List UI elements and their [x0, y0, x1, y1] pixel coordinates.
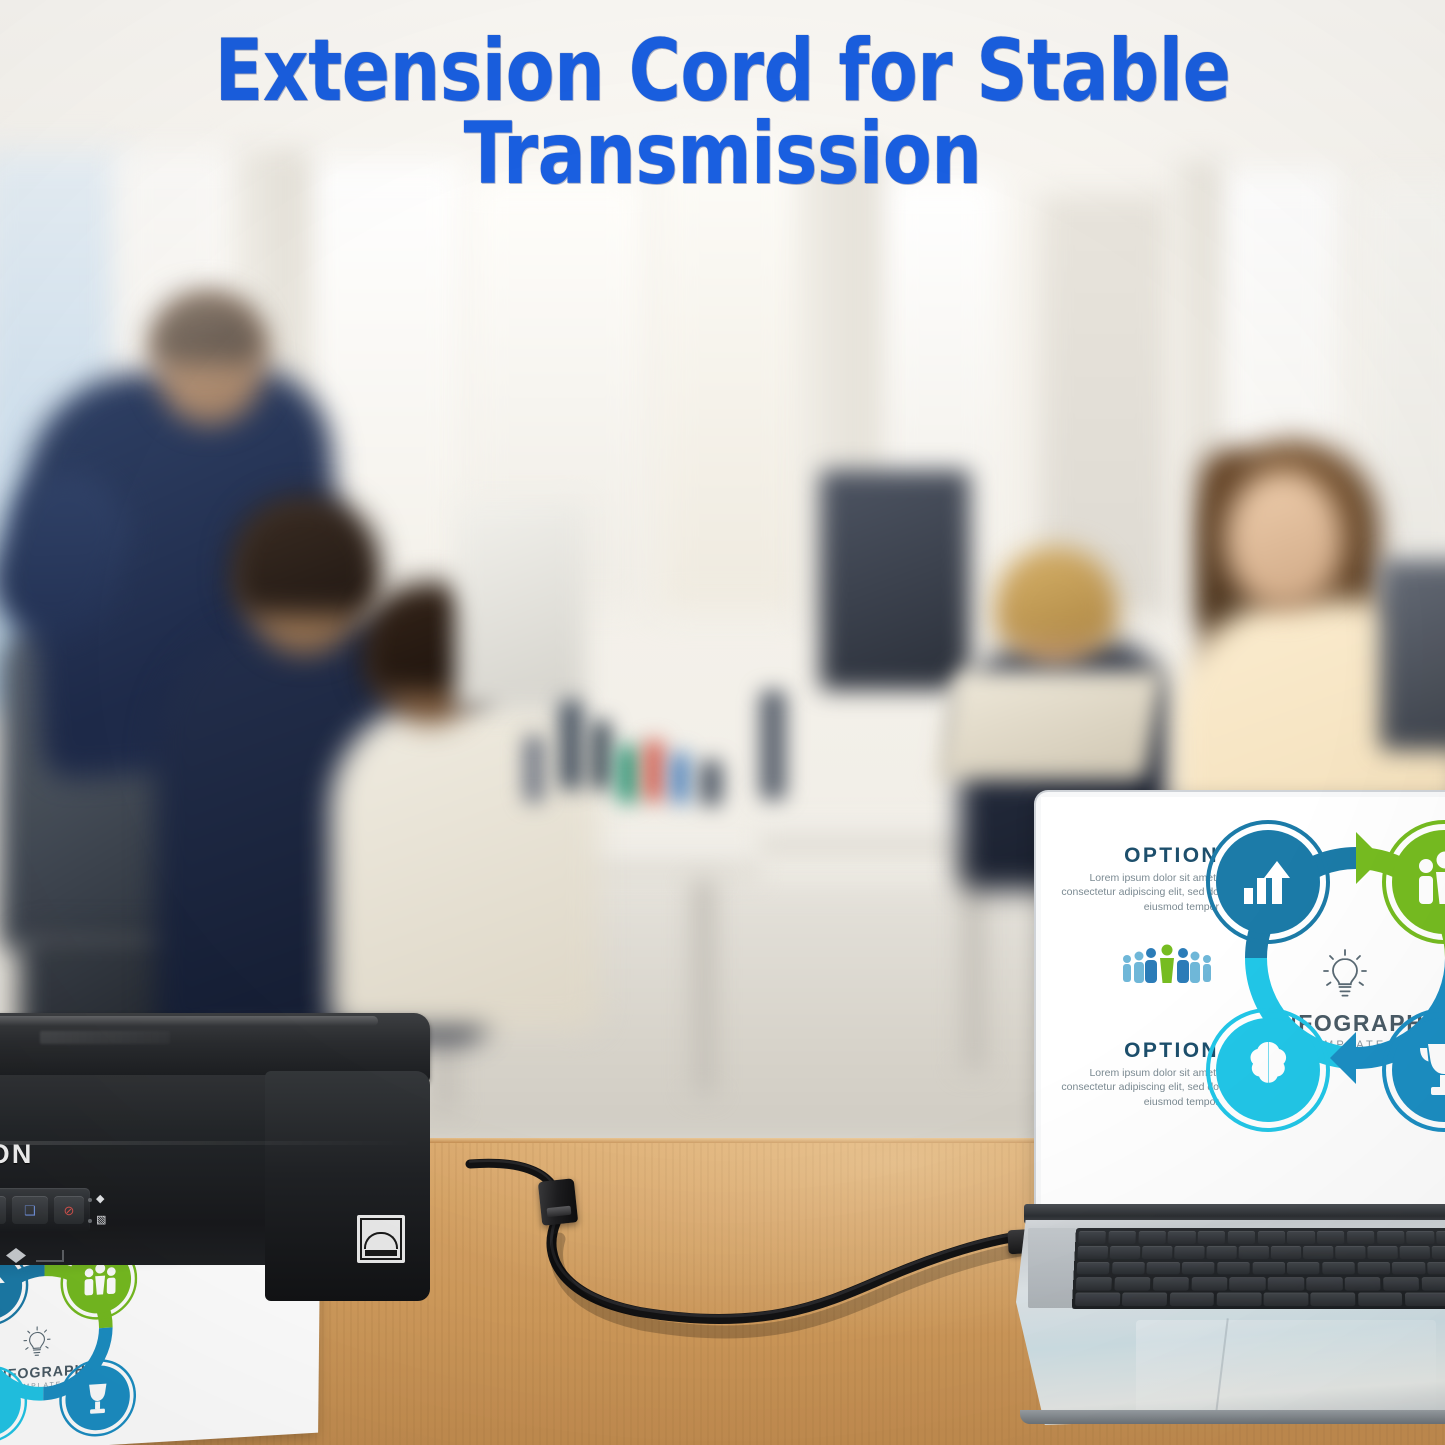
- key: [1427, 1262, 1445, 1275]
- desk-clutter-2: [592, 720, 610, 790]
- option-bottom-left: OPTION Lorem ipsum dolor sit amet, conse…: [1051, 1040, 1219, 1109]
- option-top-left-title: OPTION: [1051, 845, 1219, 866]
- desk-clutter-6: [672, 752, 688, 804]
- desk-clutter-7: [700, 760, 722, 806]
- key: [1228, 1231, 1255, 1244]
- key: [1357, 1262, 1390, 1275]
- key: [1142, 1246, 1172, 1259]
- key: [1268, 1277, 1304, 1290]
- key: [1078, 1231, 1106, 1244]
- right-woman-head: [1225, 470, 1343, 610]
- option-bottom-left-body: Lorem ipsum dolor sit amet, consectetur …: [1051, 1066, 1219, 1109]
- key: [1122, 1293, 1167, 1306]
- key: [1077, 1262, 1110, 1275]
- key: [1383, 1277, 1419, 1290]
- key: [1112, 1262, 1145, 1275]
- option-top-left-body: Lorem ipsum dolor sit amet, consectetur …: [1051, 871, 1219, 914]
- key: [1377, 1231, 1405, 1244]
- growth-chart-node: [1216, 830, 1320, 934]
- key: [1076, 1277, 1112, 1290]
- key: [1287, 1262, 1320, 1275]
- key: [1169, 1293, 1214, 1306]
- key: [1114, 1277, 1150, 1290]
- key: [1252, 1262, 1285, 1275]
- desk-clutter-1: [560, 700, 582, 790]
- key: [1303, 1246, 1333, 1259]
- key: [1239, 1246, 1269, 1259]
- desk-clutter-3: [618, 745, 638, 803]
- headline-line-2: Transmission: [58, 113, 1387, 196]
- key: [1230, 1277, 1266, 1290]
- key: [1191, 1277, 1227, 1290]
- key: [1322, 1262, 1355, 1275]
- key: [1406, 1231, 1434, 1244]
- key: [1198, 1231, 1226, 1244]
- key: [1264, 1293, 1309, 1306]
- laptop-screen[interactable]: OPTION Lorem ipsum dolor sit amet, conse…: [1041, 797, 1445, 1208]
- usb-female-port: [547, 1206, 572, 1217]
- keyboard-row: [1077, 1246, 1445, 1259]
- printer-lid-emboss: [40, 1031, 170, 1044]
- laptop: OPTION Lorem ipsum dolor sit amet, conse…: [1016, 790, 1445, 1390]
- laptop-lid: OPTION Lorem ipsum dolor sit amet, conse…: [1034, 790, 1445, 1208]
- keyboard-row: [1077, 1262, 1445, 1275]
- key: [1347, 1231, 1375, 1244]
- desk-clutter-8: [760, 690, 786, 800]
- desk-clutter-4: [645, 740, 663, 802]
- people-crowd-icon: [1117, 943, 1217, 985]
- seated-man-hair: [230, 495, 380, 615]
- key: [1257, 1231, 1284, 1244]
- key: [1436, 1231, 1445, 1244]
- bg-laptop: [935, 670, 1164, 780]
- bg-desk-leg-2: [690, 880, 714, 1095]
- bg-monitor-3: [1380, 560, 1445, 750]
- window-panel-d: [660, 140, 800, 610]
- laptop-keyboard[interactable]: [1072, 1228, 1445, 1309]
- key: [1358, 1293, 1403, 1306]
- laptop-front-lip: [1020, 1410, 1445, 1424]
- key: [1108, 1231, 1136, 1244]
- headline: Extension Cord for Stable Transmission: [58, 30, 1387, 195]
- bg-monitor-2: [820, 470, 970, 690]
- key: [1110, 1246, 1140, 1259]
- cycle-diagram: [1206, 802, 1445, 1202]
- key: [1147, 1262, 1180, 1275]
- key: [1182, 1262, 1215, 1275]
- key: [1271, 1246, 1301, 1259]
- key: [1207, 1246, 1237, 1259]
- brain-node: [1216, 1018, 1320, 1122]
- key: [1400, 1246, 1430, 1259]
- product-marketing-image: Extension Cord for Stable Transmission O…: [0, 0, 1445, 1445]
- laptop-trackpad[interactable]: [1136, 1320, 1436, 1415]
- key: [1392, 1262, 1425, 1275]
- keyboard-row: [1076, 1277, 1445, 1290]
- key: [1311, 1293, 1356, 1306]
- key: [1168, 1231, 1196, 1244]
- key: [1345, 1277, 1381, 1290]
- key: [1405, 1293, 1445, 1306]
- key: [1075, 1293, 1120, 1306]
- key: [1421, 1277, 1445, 1290]
- bg-monitor-1: [455, 500, 585, 710]
- keyboard-row: [1075, 1293, 1445, 1306]
- desk-clutter-5: [524, 735, 544, 803]
- keyboard-row: [1078, 1231, 1445, 1244]
- key: [1174, 1246, 1204, 1259]
- printer-lid-highlight: [0, 1016, 378, 1026]
- usb-female-coupler: [538, 1178, 578, 1226]
- key: [1306, 1277, 1342, 1290]
- key: [1432, 1246, 1445, 1259]
- key: [1317, 1231, 1344, 1244]
- key: [1217, 1293, 1262, 1306]
- key: [1287, 1231, 1314, 1244]
- key: [1138, 1231, 1166, 1244]
- people-node: [1392, 830, 1445, 934]
- key: [1217, 1262, 1250, 1275]
- key: [1077, 1246, 1107, 1259]
- key: [1368, 1246, 1398, 1259]
- option-bottom-left-title: OPTION: [1051, 1040, 1219, 1061]
- key: [1335, 1246, 1365, 1259]
- key: [1153, 1277, 1189, 1290]
- infographic-template: OPTION Lorem ipsum dolor sit amet, conse…: [1041, 797, 1445, 1208]
- option-top-left: OPTION Lorem ipsum dolor sit amet, conse…: [1051, 845, 1219, 914]
- laptop-speaker-grille: [1028, 1228, 1076, 1308]
